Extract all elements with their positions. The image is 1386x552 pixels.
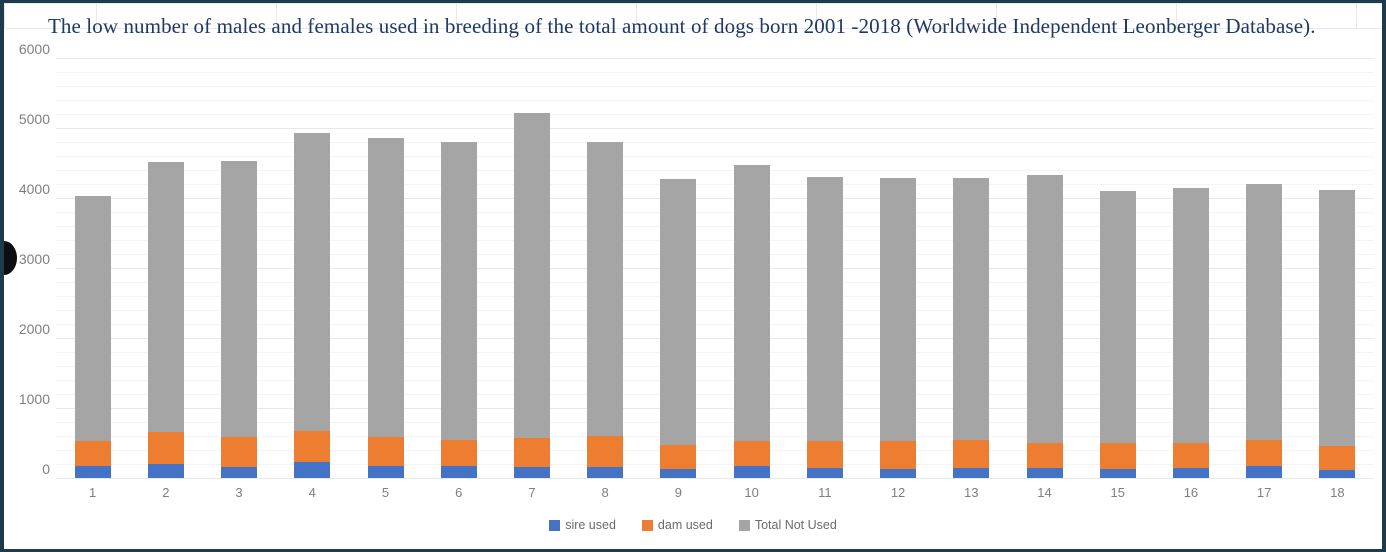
x-axis-tick-label: 15 xyxy=(1088,485,1148,500)
bar-segment-total-not-used[interactable] xyxy=(734,165,770,440)
bar-segment-dam-used[interactable] xyxy=(1173,443,1209,468)
x-axis-tick-label: 18 xyxy=(1307,485,1367,500)
bar-segment-sire-used[interactable] xyxy=(221,467,257,478)
x-axis-tick-label: 17 xyxy=(1234,485,1294,500)
stacked-bar[interactable] xyxy=(75,196,111,478)
legend-label: sire used xyxy=(565,518,616,532)
bar-segment-total-not-used[interactable] xyxy=(514,113,550,438)
x-axis-tick-label: 2 xyxy=(136,485,196,500)
x-axis-tick-label: 8 xyxy=(575,485,635,500)
bar-group[interactable] xyxy=(441,58,477,478)
x-axis-tick-label: 4 xyxy=(282,485,342,500)
x-axis-tick-label: 6 xyxy=(429,485,489,500)
stacked-bar[interactable] xyxy=(1027,175,1063,478)
y-axis-tick-label: 2000 xyxy=(8,321,50,337)
bar-segment-sire-used[interactable] xyxy=(368,466,404,478)
x-axis-tick-label: 12 xyxy=(868,485,928,500)
x-axis-tick-label: 16 xyxy=(1161,485,1221,500)
plot-area: 0100020003000400050006000 12345678910111… xyxy=(4,3,1382,549)
bar-segment-total-not-used[interactable] xyxy=(1246,184,1282,440)
bar-segment-dam-used[interactable] xyxy=(75,441,111,466)
legend-swatch-icon xyxy=(549,520,560,531)
stacked-bar[interactable] xyxy=(148,162,184,478)
x-axis: 123456789101112131415161718 xyxy=(56,485,1374,507)
legend-item[interactable]: Total Not Used xyxy=(739,518,837,532)
bar-segment-total-not-used[interactable] xyxy=(148,162,184,432)
stacked-bar[interactable] xyxy=(880,178,916,478)
bar-segment-total-not-used[interactable] xyxy=(368,138,404,437)
bar-group[interactable] xyxy=(294,58,330,478)
bar-segment-sire-used[interactable] xyxy=(294,462,330,478)
bar-segment-dam-used[interactable] xyxy=(807,441,843,468)
bar-segment-sire-used[interactable] xyxy=(1100,469,1136,478)
bar-segment-sire-used[interactable] xyxy=(880,469,916,478)
bar-group[interactable] xyxy=(734,58,770,478)
bar-segment-total-not-used[interactable] xyxy=(807,177,843,441)
bar-group[interactable] xyxy=(1246,58,1282,478)
bar-segment-total-not-used[interactable] xyxy=(1027,175,1063,442)
stacked-bar[interactable] xyxy=(368,138,404,478)
x-axis-tick-label: 7 xyxy=(502,485,562,500)
stacked-bar[interactable] xyxy=(734,165,770,478)
bar-group[interactable] xyxy=(1319,58,1355,478)
bar-group[interactable] xyxy=(221,58,257,478)
stacked-bar[interactable] xyxy=(587,142,623,478)
stacked-bar[interactable] xyxy=(1173,188,1209,478)
bar-segment-sire-used[interactable] xyxy=(1246,466,1282,478)
legend-swatch-icon xyxy=(642,520,653,531)
bar-group[interactable] xyxy=(953,58,989,478)
bar-segment-sire-used[interactable] xyxy=(807,468,843,479)
bar-group[interactable] xyxy=(1100,58,1136,478)
gridline-major xyxy=(56,478,1374,479)
bar-segment-sire-used[interactable] xyxy=(148,464,184,478)
x-axis-tick-label: 3 xyxy=(209,485,269,500)
bar-group[interactable] xyxy=(807,58,843,478)
y-axis-tick-label: 5000 xyxy=(8,111,50,127)
bar-segment-dam-used[interactable] xyxy=(1246,440,1282,466)
bar-segment-total-not-used[interactable] xyxy=(880,178,916,441)
stacked-bar[interactable] xyxy=(1246,184,1282,478)
stacked-bar[interactable] xyxy=(441,142,477,478)
bar-segment-sire-used[interactable] xyxy=(1173,468,1209,478)
bar-segment-total-not-used[interactable] xyxy=(221,161,257,437)
bar-segment-dam-used[interactable] xyxy=(514,438,550,467)
x-axis-tick-label: 10 xyxy=(722,485,782,500)
x-axis-tick-label: 11 xyxy=(795,485,855,500)
bars-layer xyxy=(56,58,1374,478)
bar-group[interactable] xyxy=(75,58,111,478)
x-axis-tick-label: 9 xyxy=(648,485,708,500)
bar-segment-sire-used[interactable] xyxy=(660,469,696,478)
bar-segment-total-not-used[interactable] xyxy=(587,142,623,437)
bar-group[interactable] xyxy=(514,58,550,478)
y-axis-tick-label: 0 xyxy=(8,461,50,477)
bar-segment-sire-used[interactable] xyxy=(514,467,550,478)
legend-label: Total Not Used xyxy=(755,518,837,532)
bar-segment-total-not-used[interactable] xyxy=(660,179,696,444)
stacked-bar[interactable] xyxy=(1319,190,1355,478)
stacked-bar[interactable] xyxy=(1100,191,1136,478)
bar-segment-total-not-used[interactable] xyxy=(1319,190,1355,446)
bar-segment-total-not-used[interactable] xyxy=(441,142,477,440)
bar-segment-dam-used[interactable] xyxy=(1319,446,1355,470)
stacked-bar[interactable] xyxy=(294,133,330,478)
bar-group[interactable] xyxy=(1173,58,1209,478)
bar-segment-sire-used[interactable] xyxy=(953,468,989,479)
bar-group[interactable] xyxy=(660,58,696,478)
stacked-bar[interactable] xyxy=(807,177,843,478)
bar-group[interactable] xyxy=(368,58,404,478)
y-axis-tick-label: 4000 xyxy=(8,181,50,197)
x-axis-tick-label: 5 xyxy=(356,485,416,500)
legend-swatch-icon xyxy=(739,520,750,531)
bar-segment-dam-used[interactable] xyxy=(953,440,989,467)
legend-item[interactable]: dam used xyxy=(642,518,713,532)
bar-segment-sire-used[interactable] xyxy=(734,466,770,478)
stacked-bar[interactable] xyxy=(953,178,989,478)
bar-group[interactable] xyxy=(587,58,623,478)
bar-group[interactable] xyxy=(1027,58,1063,478)
legend-label: dam used xyxy=(658,518,713,532)
x-axis-tick-label: 14 xyxy=(1015,485,1075,500)
bar-segment-total-not-used[interactable] xyxy=(953,178,989,440)
bar-segment-dam-used[interactable] xyxy=(1100,443,1136,469)
bar-segment-total-not-used[interactable] xyxy=(294,133,330,431)
chart-frame: The low number of males and females used… xyxy=(0,0,1386,552)
bar-segment-dam-used[interactable] xyxy=(1027,443,1063,468)
bar-segment-sire-used[interactable] xyxy=(441,466,477,478)
bar-segment-sire-used[interactable] xyxy=(587,467,623,478)
stacked-bar[interactable] xyxy=(660,179,696,478)
bar-segment-total-not-used[interactable] xyxy=(75,196,111,441)
bar-segment-dam-used[interactable] xyxy=(441,440,477,467)
bar-segment-sire-used[interactable] xyxy=(1319,470,1355,478)
bar-segment-dam-used[interactable] xyxy=(294,431,330,462)
y-axis-tick-label: 1000 xyxy=(8,391,50,407)
bar-segment-dam-used[interactable] xyxy=(734,441,770,466)
bar-segment-dam-used[interactable] xyxy=(587,436,623,466)
bar-group[interactable] xyxy=(880,58,916,478)
bar-segment-dam-used[interactable] xyxy=(148,432,184,464)
bar-segment-dam-used[interactable] xyxy=(660,445,696,469)
x-axis-tick-label: 13 xyxy=(941,485,1001,500)
stacked-bar[interactable] xyxy=(514,113,550,478)
bar-segment-dam-used[interactable] xyxy=(368,437,404,466)
chart-legend: sire useddam usedTotal Not Used xyxy=(4,518,1382,532)
bar-segment-dam-used[interactable] xyxy=(221,437,257,467)
bar-group[interactable] xyxy=(148,58,184,478)
bar-segment-sire-used[interactable] xyxy=(1027,468,1063,478)
bar-segment-total-not-used[interactable] xyxy=(1100,191,1136,443)
x-axis-tick-label: 1 xyxy=(63,485,123,500)
bar-segment-sire-used[interactable] xyxy=(75,466,111,478)
legend-item[interactable]: sire used xyxy=(549,518,616,532)
y-axis-tick-label: 6000 xyxy=(8,41,50,57)
bar-segment-total-not-used[interactable] xyxy=(1173,188,1209,443)
bar-segment-dam-used[interactable] xyxy=(880,441,916,469)
stacked-bar[interactable] xyxy=(221,161,257,478)
